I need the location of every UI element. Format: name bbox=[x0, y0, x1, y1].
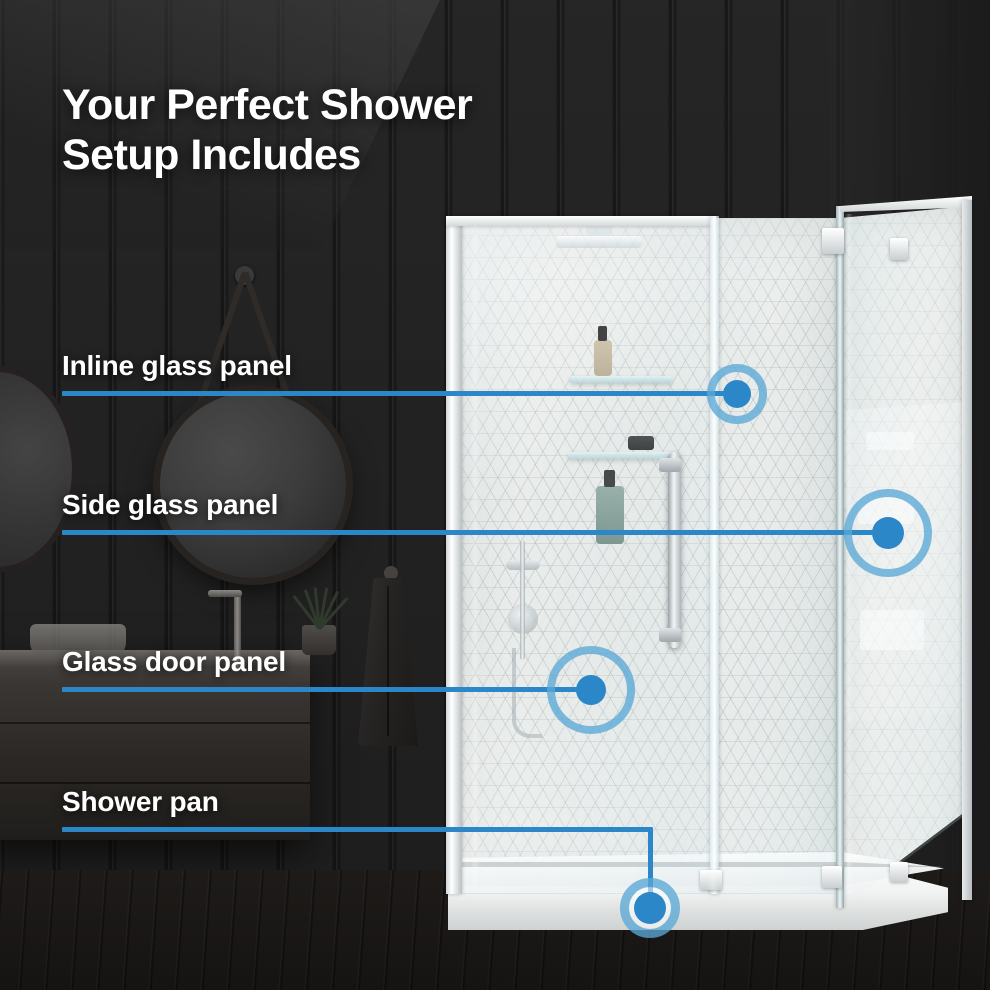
callout-marker-dot bbox=[723, 380, 751, 408]
callout-label-glass-door-panel: Glass door panel bbox=[62, 646, 286, 678]
callout-marker-side-glass-panel bbox=[844, 489, 932, 577]
callout-leader-line-glass-door-panel bbox=[62, 687, 592, 692]
callout-label-inline-glass-panel: Inline glass panel bbox=[62, 350, 292, 382]
callout-leader-line-shower-pan bbox=[62, 827, 652, 832]
callout-leader-line-side-glass-panel bbox=[62, 530, 890, 535]
callout-marker-dot bbox=[872, 517, 904, 549]
callout-leader-line-inline-glass-panel bbox=[62, 391, 740, 396]
callout-marker-dot bbox=[576, 675, 606, 705]
callout-label-shower-pan: Shower pan bbox=[62, 786, 219, 818]
callout-overlay: Inline glass panelSide glass panelGlass … bbox=[0, 0, 990, 990]
callout-marker-inline-glass-panel bbox=[707, 364, 767, 424]
callout-label-side-glass-panel: Side glass panel bbox=[62, 489, 278, 521]
callout-marker-shower-pan bbox=[620, 878, 680, 938]
callout-marker-dot bbox=[634, 892, 666, 924]
infographic-canvas: Your Perfect Shower Setup Includes Inlin… bbox=[0, 0, 990, 990]
callout-marker-glass-door-panel bbox=[547, 646, 635, 734]
